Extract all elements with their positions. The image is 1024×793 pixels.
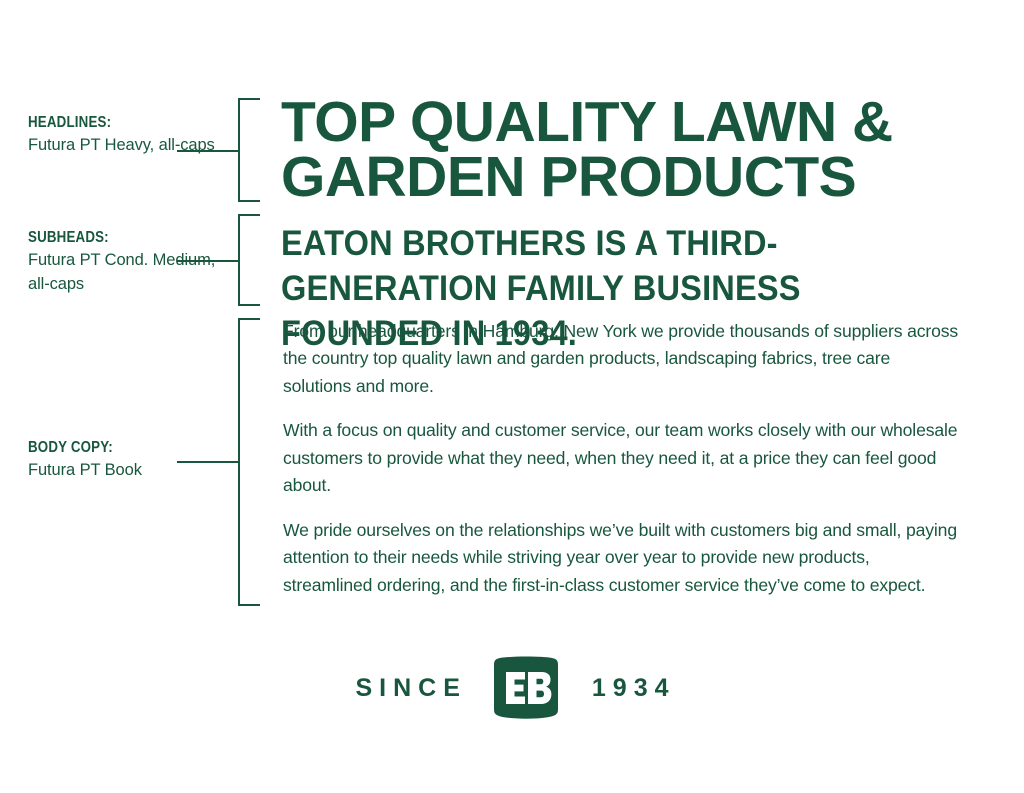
logo-lockup: SINCE 1934 bbox=[0, 655, 1024, 721]
connector-line-bodycopy bbox=[177, 461, 239, 463]
sample-headline: TOP QUALITY LAWN & GARDEN PRODUCTS bbox=[281, 95, 981, 206]
sample-body-copy: From our headquarters in Hamburg, New Yo… bbox=[283, 318, 959, 599]
spec-label-subheads: SUBHEADS: Futura PT Cond. Medium, all-ca… bbox=[28, 228, 218, 296]
bracket-headlines bbox=[238, 98, 260, 202]
spec-description-headlines: Futura PT Heavy, all-caps bbox=[28, 134, 218, 157]
body-paragraph: With a focus on quality and customer ser… bbox=[283, 417, 959, 499]
spec-category-headlines: HEADLINES: bbox=[28, 113, 191, 132]
connector-line-subheads bbox=[177, 260, 239, 262]
spec-category-subheads: SUBHEADS: bbox=[28, 228, 191, 247]
typography-spec-sheet: HEADLINES: Futura PT Heavy, all-caps SUB… bbox=[0, 0, 1024, 793]
logo-since-label: SINCE bbox=[348, 676, 466, 701]
body-paragraph: We pride ourselves on the relationships … bbox=[283, 517, 959, 599]
bracket-bodycopy bbox=[238, 318, 260, 606]
logo-year-label: 1934 bbox=[585, 676, 676, 701]
eb-shield-logo bbox=[489, 655, 563, 721]
spec-category-bodycopy: BODY COPY: bbox=[28, 438, 191, 457]
body-paragraph: From our headquarters in Hamburg, New Yo… bbox=[283, 318, 959, 400]
bracket-subheads bbox=[238, 214, 260, 306]
connector-line-headlines bbox=[177, 150, 239, 152]
spec-description-subheads: Futura PT Cond. Medium, all-caps bbox=[28, 249, 218, 296]
